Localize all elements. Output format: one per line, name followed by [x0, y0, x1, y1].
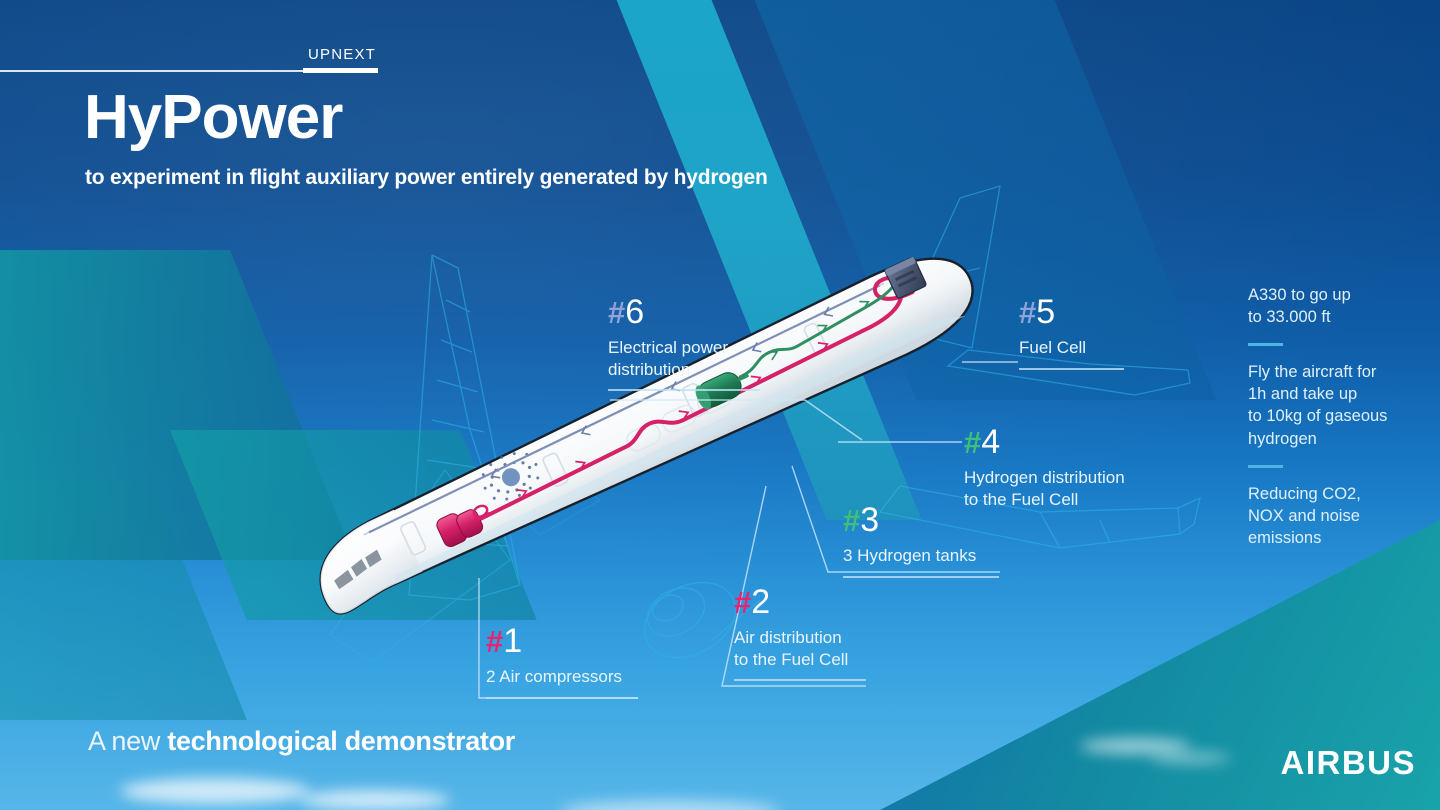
header-rule-accent [303, 68, 378, 73]
callout-6: #6 Electrical power distribution [608, 295, 768, 391]
callout-1-digit: 1 [503, 622, 521, 660]
callout-3-label: 3 Hydrogen tanks [843, 545, 1005, 567]
callout-6-hash: # [608, 295, 625, 330]
callout-6-number: #6 [608, 295, 768, 329]
callout-6-label: Electrical power distribution [608, 337, 768, 380]
callout-4-digit: 4 [981, 423, 999, 461]
callout-5-digit: 5 [1036, 293, 1054, 331]
callout-1-label: 2 Air compressors [486, 666, 644, 688]
callout-1: #1 2 Air compressors [486, 624, 644, 699]
info-panel: A330 to go up to 33.000 ft Fly the aircr… [1248, 284, 1430, 549]
callout-3-rule [843, 576, 999, 578]
callout-2-digit: 2 [751, 583, 769, 621]
callout-2-rule [734, 679, 866, 681]
callout-3-digit: 3 [860, 501, 878, 539]
callout-5: #5 Fuel Cell [1019, 295, 1129, 370]
info-divider-0 [1248, 343, 1283, 346]
callout-1-rule [486, 697, 638, 699]
infographic-canvas: UPNEXT HyPower to experiment in flight a… [0, 0, 1440, 810]
page-title: HyPower [84, 87, 342, 149]
callout-3: #3 3 Hydrogen tanks [843, 503, 1005, 578]
footer-tagline-light: A new [88, 726, 167, 756]
callout-6-rule [608, 389, 760, 391]
callout-2-hash: # [734, 585, 751, 620]
callout-5-number: #5 [1019, 295, 1129, 329]
callout-3-hash: # [843, 503, 860, 538]
cloud-2 [300, 790, 450, 810]
callout-5-label: Fuel Cell [1019, 337, 1129, 359]
callout-1-number: #1 [486, 624, 644, 658]
footer-tagline: A new technological demonstrator [88, 726, 515, 757]
callout-6-digit: 6 [625, 293, 643, 331]
eyebrow-upnext: UPNEXT [303, 46, 381, 63]
info-block-0: A330 to go up to 33.000 ft [1248, 284, 1430, 328]
cloud-1 [120, 778, 310, 804]
info-block-1: Fly the aircraft for 1h and take up to 1… [1248, 361, 1430, 449]
cloud-4 [1150, 752, 1230, 764]
callout-4: #4 Hydrogen distribution to the Fuel Cel… [964, 425, 1158, 510]
info-block-2: Reducing CO2, NOX and noise emissions [1248, 483, 1430, 549]
footer-tagline-bold: technological demonstrator [167, 726, 515, 756]
callout-5-hash: # [1019, 295, 1036, 330]
callout-4-hash: # [964, 425, 981, 460]
callout-2: #2 Air distribution to the Fuel Cell [734, 585, 872, 681]
callout-2-number: #2 [734, 585, 872, 619]
page-subtitle: to experiment in flight auxiliary power … [85, 166, 768, 190]
callout-5-rule [1019, 368, 1124, 370]
callout-4-number: #4 [964, 425, 1158, 459]
info-divider-1 [1248, 465, 1283, 468]
callout-2-label: Air distribution to the Fuel Cell [734, 627, 872, 670]
callout-1-hash: # [486, 624, 503, 659]
callout-3-number: #3 [843, 503, 1005, 537]
airbus-logo: AIRBUS [1280, 744, 1416, 782]
